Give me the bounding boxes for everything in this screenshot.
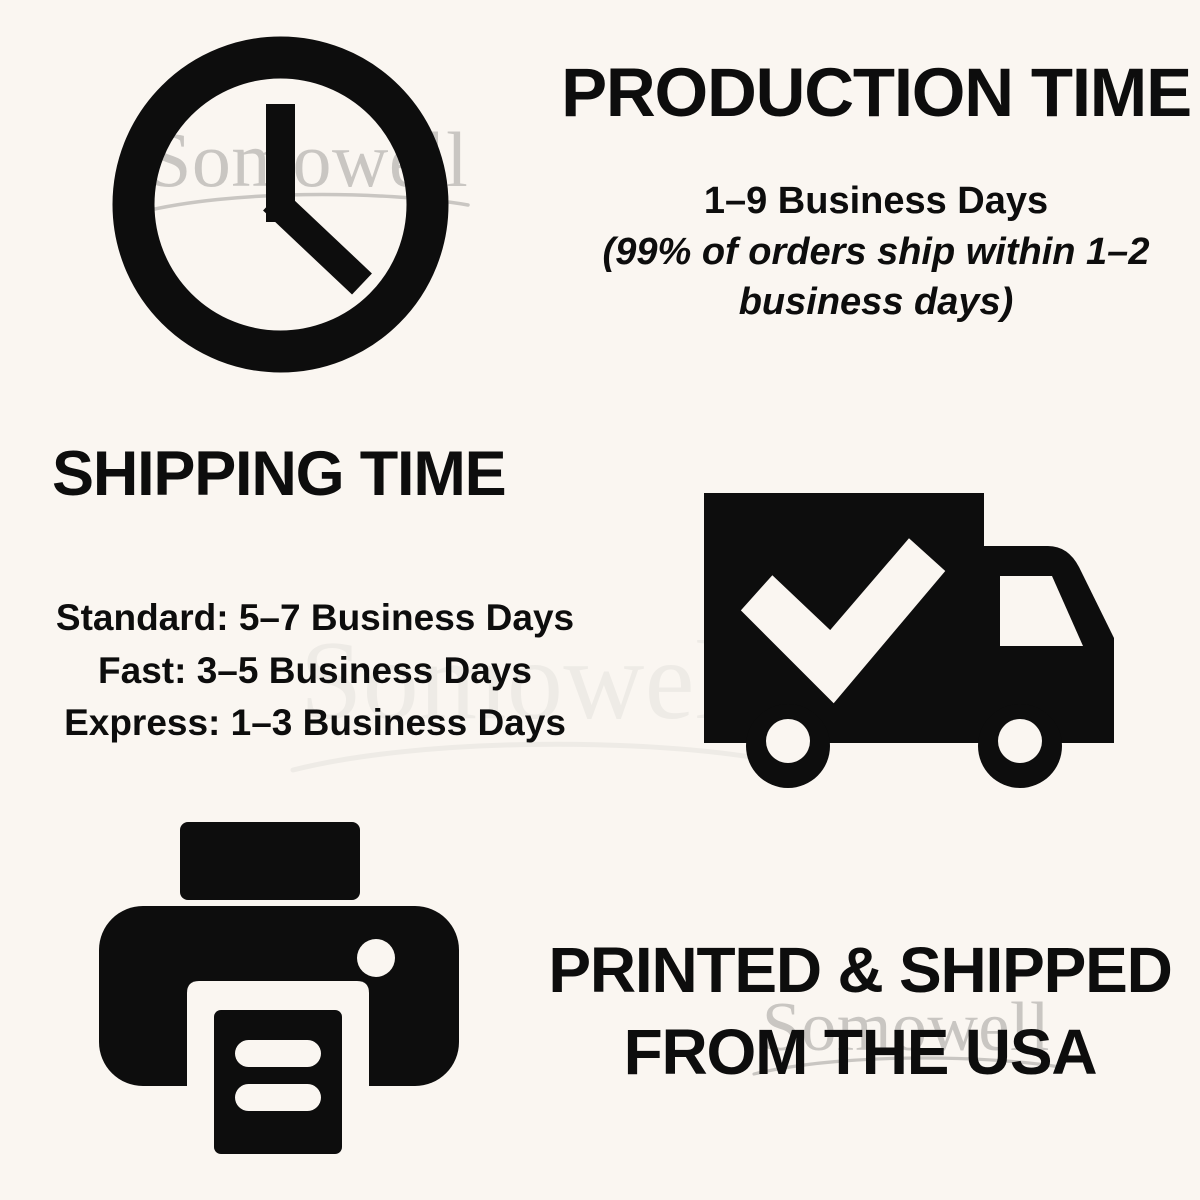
shipping-info-infographic: Somowell Somowell Somowell PRODUCTION TI… — [0, 0, 1200, 1200]
production-time-note-line2: business days) — [552, 277, 1200, 327]
production-time-block: PRODUCTION TIME 1–9 Business Days (99% o… — [552, 58, 1200, 327]
production-time-note-line1: (99% of orders ship within 1–2 — [552, 227, 1200, 277]
production-time-heading: PRODUCTION TIME — [552, 58, 1200, 128]
origin-block: PRINTED & SHIPPED FROM THE USA — [520, 930, 1200, 1094]
shipping-option-express: Express: 1–3 Business Days — [10, 697, 620, 750]
shipping-options-list: Standard: 5–7 Business Days Fast: 3–5 Bu… — [10, 592, 620, 750]
shipping-time-block: SHIPPING TIME — [52, 442, 505, 506]
production-time-duration: 1–9 Business Days — [552, 176, 1200, 226]
printer-icon — [95, 818, 463, 1158]
shipping-option-fast: Fast: 3–5 Business Days — [10, 645, 620, 698]
shipping-option-standard: Standard: 5–7 Business Days — [10, 592, 620, 645]
delivery-truck-icon — [700, 488, 1120, 788]
clock-icon — [108, 32, 453, 377]
origin-heading-line2: FROM THE USA — [520, 1012, 1200, 1094]
shipping-time-heading: SHIPPING TIME — [52, 442, 505, 506]
origin-heading-line1: PRINTED & SHIPPED — [520, 930, 1200, 1012]
